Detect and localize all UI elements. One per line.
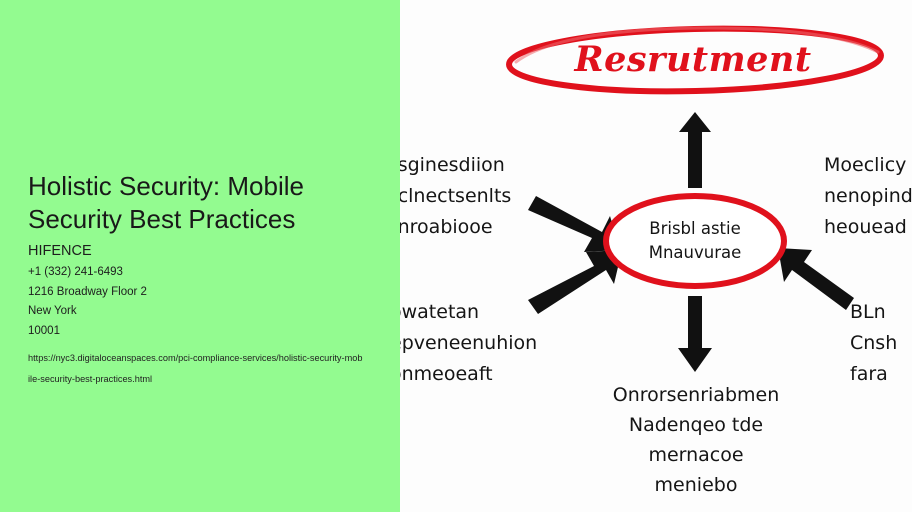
label-bottom-right-line1: BLn [850,297,897,328]
label-bottom-center-line1: Onrorsenriabmen [569,380,823,410]
center-node-text: Brisbl astie Mnauvurae [600,192,790,290]
label-bottom-left-line1: owatetan [400,297,537,328]
phone-number: +1 (332) 241-6493 [28,263,373,283]
info-block: Holistic Security: Mobile Security Best … [28,170,373,390]
label-bottom-left-line2: epveneenuhion [400,328,537,359]
label-bottom-center-line2: Nadenqeo tde [569,410,823,440]
label-top-right: Moeclicy nenopind heouead [824,150,912,243]
label-top-right-line3: heouead [824,212,912,243]
address-street: 1216 Broadway Floor 2 [28,283,373,303]
address-zip: 10001 [28,322,373,342]
label-bottom-left-line3: onmeoeaft [400,359,537,390]
label-bottom-right-line2: Cnsh [850,328,897,359]
left-info-panel: Holistic Security: Mobile Security Best … [0,0,400,512]
center-node-line1: Brisbl astie [649,217,741,241]
label-top-left-line1: esginesdiion [400,150,511,181]
page-title: Holistic Security: Mobile Security Best … [28,170,373,236]
label-top-right-line1: Moeclicy [824,150,912,181]
label-bottom-center-line4: meniebo [569,470,823,500]
label-bottom-left: owatetan epveneenuhion onmeoeaft [400,297,537,390]
arrow-up-icon [679,112,711,188]
label-bottom-right: BLn Cnsh fara [850,297,897,390]
diagram-panel: Resrutment [400,0,912,512]
label-top-left-line3: onroabiooe [400,212,511,243]
label-bottom-right-line3: fara [850,359,897,390]
label-bottom-center-line3: mernacoe [569,440,823,470]
center-node-line2: Mnauvurae [649,241,742,265]
company-name: HIFENCE [28,242,373,261]
label-bottom-center: Onrorsenriabmen Nadenqeo tde mernacoe me… [569,380,823,500]
label-top-left-line2: eclnectsenlts [400,181,511,212]
address-city: New York [28,302,373,322]
diagram-canvas: Resrutment [400,0,912,512]
center-node: Brisbl astie Mnauvurae [600,192,790,290]
screenshot-root: Holistic Security: Mobile Security Best … [0,0,912,512]
label-top-left: esginesdiion eclnectsenlts onroabiooe [400,150,511,243]
source-url[interactable]: https://nyc3.digitaloceanspaces.com/pci-… [28,348,363,390]
label-top-right-line2: nenopind [824,181,912,212]
arrow-down-icon [678,296,712,372]
